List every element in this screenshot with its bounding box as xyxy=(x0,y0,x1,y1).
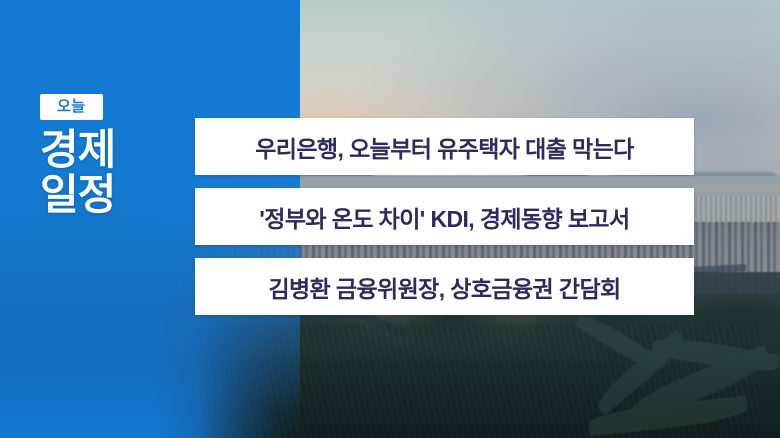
page-title-line-1: 경제 xyxy=(40,128,190,173)
page-title-line-2: 일정 xyxy=(40,173,190,218)
headline-list: 우리은행, 오늘부터 유주택자 대출 막는다 '정부와 온도 차이' KDI, … xyxy=(195,118,694,315)
economy-schedule-card: 오늘 경제 일정 우리은행, 오늘부터 유주택자 대출 막는다 '정부와 온도 … xyxy=(0,0,780,438)
headline-item-1[interactable]: 우리은행, 오늘부터 유주택자 대출 막는다 xyxy=(195,118,694,175)
headline-item-2[interactable]: '정부와 온도 차이' KDI, 경제동향 보고서 xyxy=(195,188,694,245)
today-badge: 오늘 xyxy=(40,94,103,120)
headline-item-3[interactable]: 김병환 금융위원장, 상호금융권 간담회 xyxy=(195,258,694,315)
title-block: 오늘 경제 일정 xyxy=(40,94,190,217)
page-title: 경제 일정 xyxy=(40,128,190,217)
